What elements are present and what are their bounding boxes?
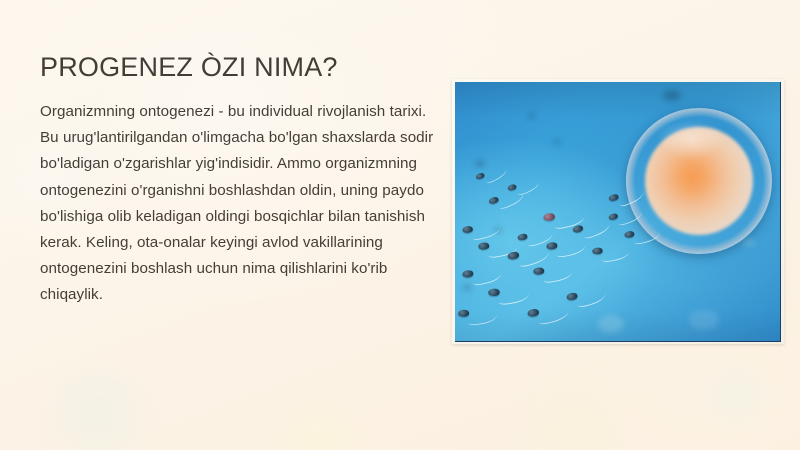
- figure-image: [455, 82, 781, 342]
- body-paragraph: Organizmning ontogenezi - bu individual …: [40, 99, 445, 309]
- sperm-tail: [482, 166, 508, 185]
- sperm-tail: [515, 178, 541, 196]
- sperm-tail: [497, 289, 530, 306]
- sperm-tail: [542, 267, 574, 284]
- sperm-tail: [470, 223, 500, 241]
- sperm-tail: [467, 310, 498, 326]
- background-blob: [689, 310, 719, 330]
- sperm-tail: [581, 220, 612, 240]
- sperm-tail: [555, 240, 587, 258]
- background-blob: [663, 90, 681, 101]
- background-blob: [527, 113, 536, 119]
- background-blob: [598, 315, 624, 333]
- sperm-tail: [536, 306, 570, 326]
- fertilization-figure: [452, 79, 784, 344]
- sperm-tail: [632, 229, 661, 246]
- sperm-tail: [600, 247, 630, 263]
- page-title: PROGENEZ ÒZI NIMA?: [40, 52, 445, 83]
- sperm-tail: [575, 289, 607, 309]
- slide: PROGENEZ ÒZI NIMA? Organizmning ontogene…: [0, 0, 800, 450]
- background-blob: [462, 284, 472, 291]
- egg-highlight: [658, 121, 725, 159]
- background-blob: [553, 139, 561, 145]
- background-blob: [475, 160, 485, 167]
- text-column: PROGENEZ ÒZI NIMA? Organizmning ontogene…: [40, 52, 445, 309]
- sperm-tail: [517, 247, 551, 268]
- sperm-tail: [470, 269, 502, 287]
